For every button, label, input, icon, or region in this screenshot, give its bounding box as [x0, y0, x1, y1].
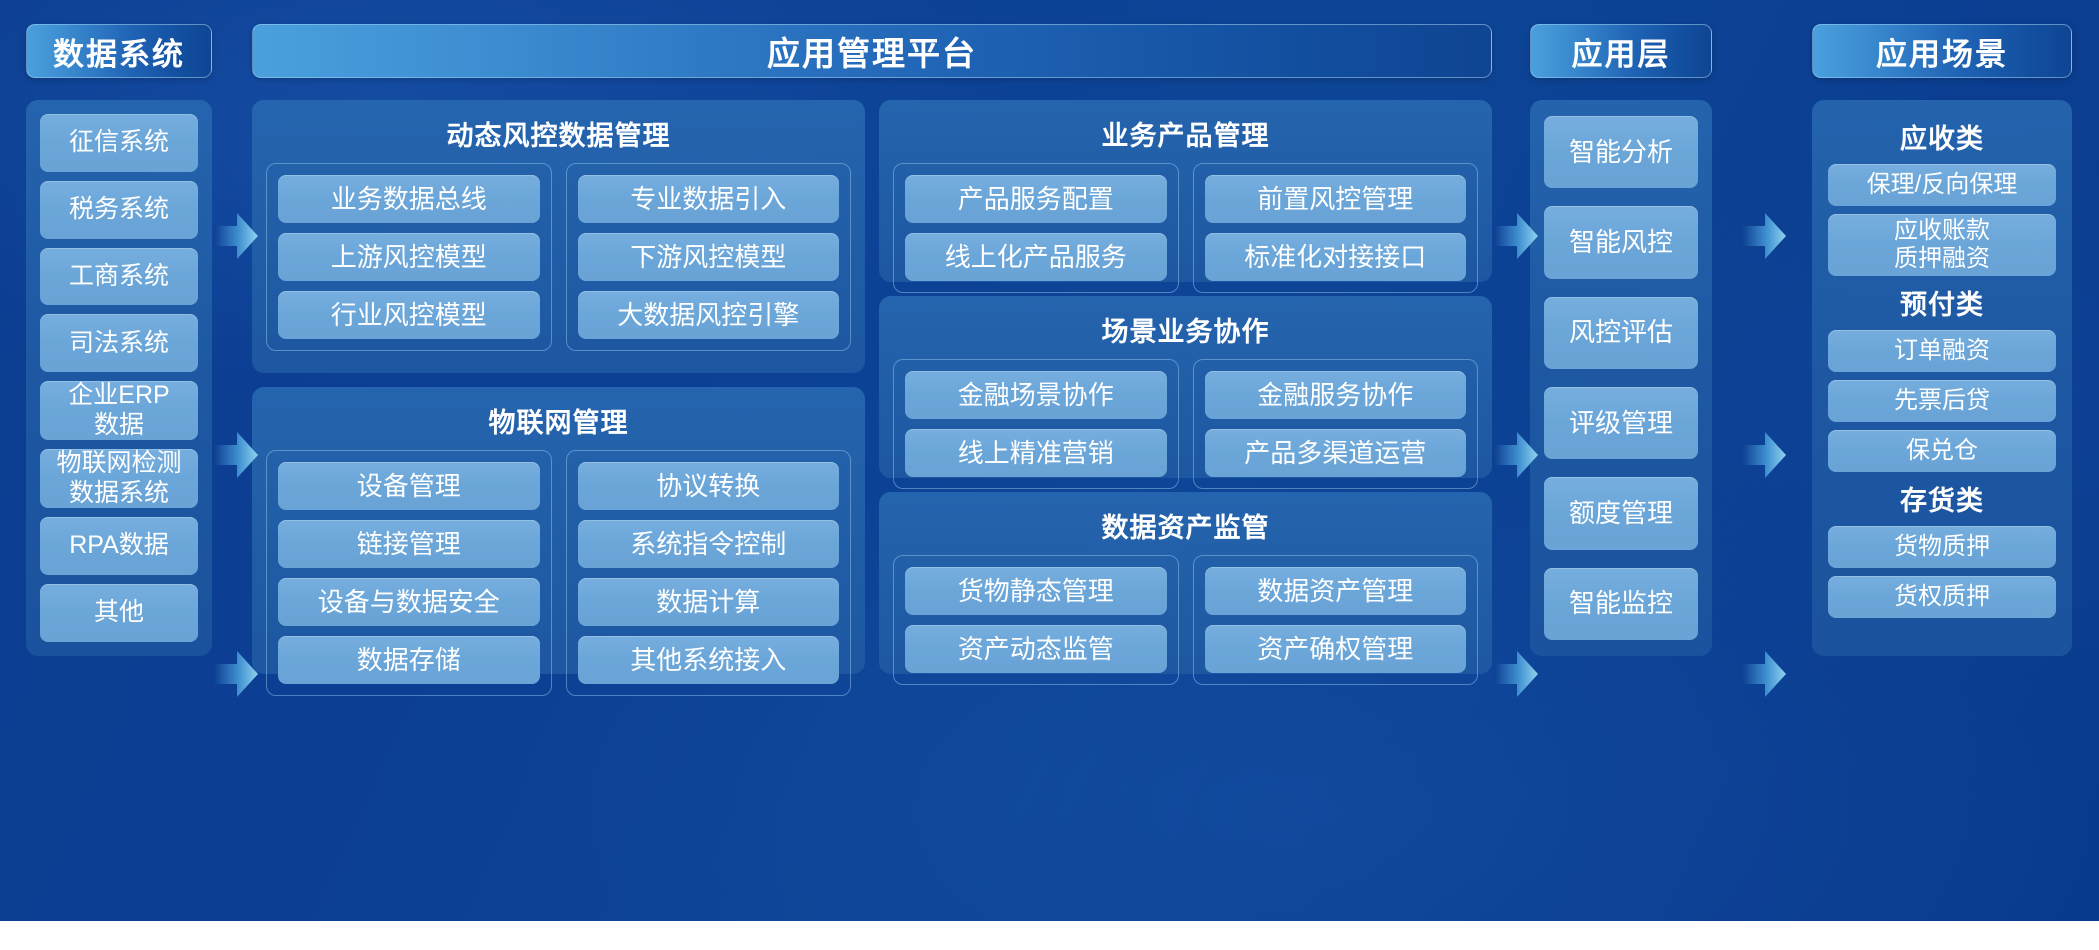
column-header-application-layer: 应用层: [1530, 24, 1712, 78]
flow-arrow-right-icon: [1494, 213, 1538, 259]
scenario-chips: 订单融资 先票后贷 保兑仓: [1828, 330, 2056, 472]
scenarios-list: 应收类 保理/反向保理 应收账款 质押融资 预付类 订单融资 先票后贷 保兑仓 …: [1812, 100, 2072, 656]
flow-arrow-right-icon: [1742, 432, 1786, 478]
flow-arrow-right-icon: [1494, 432, 1538, 478]
list-item[interactable]: 先票后贷: [1828, 380, 2056, 422]
scenario-group-title: 应收类: [1828, 110, 2056, 164]
list-item[interactable]: 数据计算: [578, 578, 840, 626]
subpanels: 金融场景协作 线上精准营销 金融服务协作 产品多渠道运营: [893, 359, 1478, 489]
platform-right-stack: 业务产品管理 产品服务配置 线上化产品服务 前置风控管理 标准化对接接口 场景业…: [879, 100, 1492, 674]
subpanel-left: 产品服务配置 线上化产品服务: [893, 163, 1179, 293]
list-item[interactable]: 征信系统: [40, 114, 198, 172]
list-item[interactable]: RPA数据: [40, 517, 198, 575]
flow-arrow-right-icon: [214, 432, 258, 478]
scenario-group-prepaid: 预付类 订单融资 先票后贷 保兑仓: [1828, 276, 2056, 472]
scenario-chips: 货物质押 货权质押: [1828, 526, 2056, 618]
list-item[interactable]: 智能分析: [1544, 116, 1698, 188]
diagram-canvas: 数据系统 征信系统 税务系统 工商系统 司法系统 企业ERP 数据 物联网检测 …: [0, 0, 2099, 950]
list-item[interactable]: 订单融资: [1828, 330, 2056, 372]
list-item[interactable]: 额度管理: [1544, 477, 1698, 549]
subpanels: 产品服务配置 线上化产品服务 前置风控管理 标准化对接接口: [893, 163, 1478, 293]
group-title: 动态风控数据管理: [266, 110, 851, 163]
group-data-asset-supervision: 数据资产监管 货物静态管理 资产动态监管 数据资产管理 资产确权管理: [879, 492, 1492, 674]
list-item[interactable]: 其他: [40, 584, 198, 642]
list-item[interactable]: 保兑仓: [1828, 430, 2056, 472]
scenario-chips: 保理/反向保理 应收账款 质押融资: [1828, 164, 2056, 276]
column-application-platform: 应用管理平台 动态风控数据管理 业务数据总线 上游风控模型 行业风控模型 专业数…: [252, 24, 1492, 674]
list-item[interactable]: 货物质押: [1828, 526, 2056, 568]
column-scenarios: 应用场景 应收类 保理/反向保理 应收账款 质押融资 预付类 订单融资 先票后贷…: [1812, 24, 2072, 656]
list-item[interactable]: 产品服务配置: [905, 175, 1167, 223]
list-item[interactable]: 智能风控: [1544, 206, 1698, 278]
subpanel-right: 协议转换 系统指令控制 数据计算 其他系统接入: [566, 450, 852, 696]
list-item[interactable]: 保理/反向保理: [1828, 164, 2056, 206]
list-item[interactable]: 资产确权管理: [1205, 625, 1467, 673]
flow-arrow-right-icon: [214, 213, 258, 259]
subpanel-left: 设备管理 链接管理 设备与数据安全 数据存储: [266, 450, 552, 696]
group-dynamic-risk-data-management: 动态风控数据管理 业务数据总线 上游风控模型 行业风控模型 专业数据引入 下游风…: [252, 100, 865, 373]
subpanels: 货物静态管理 资产动态监管 数据资产管理 资产确权管理: [893, 555, 1478, 685]
subpanel-right: 数据资产管理 资产确权管理: [1193, 555, 1479, 685]
subpanel-left: 业务数据总线 上游风控模型 行业风控模型: [266, 163, 552, 351]
list-item[interactable]: 智能监控: [1544, 568, 1698, 640]
group-title: 物联网管理: [266, 397, 851, 450]
list-item[interactable]: 其他系统接入: [578, 636, 840, 684]
list-item[interactable]: 物联网检测 数据系统: [40, 449, 198, 508]
list-item[interactable]: 线上精准营销: [905, 429, 1167, 477]
list-item[interactable]: 风控评估: [1544, 297, 1698, 369]
list-item[interactable]: 工商系统: [40, 248, 198, 306]
list-item[interactable]: 资产动态监管: [905, 625, 1167, 673]
subpanel-right: 前置风控管理 标准化对接接口: [1193, 163, 1479, 293]
list-item[interactable]: 协议转换: [578, 462, 840, 510]
list-item[interactable]: 货权质押: [1828, 576, 2056, 618]
list-item[interactable]: 产品多渠道运营: [1205, 429, 1467, 477]
platform-grid: 动态风控数据管理 业务数据总线 上游风控模型 行业风控模型 专业数据引入 下游风…: [252, 100, 1492, 674]
scenario-group-title: 存货类: [1828, 472, 2056, 526]
group-title: 数据资产监管: [893, 502, 1478, 555]
subpanel-right: 专业数据引入 下游风控模型 大数据风控引擎: [566, 163, 852, 351]
column-header-application-platform: 应用管理平台: [252, 24, 1492, 78]
scenario-group-title: 预付类: [1828, 276, 2056, 330]
data-system-list: 征信系统 税务系统 工商系统 司法系统 企业ERP 数据 物联网检测 数据系统 …: [26, 100, 212, 656]
list-item[interactable]: 税务系统: [40, 181, 198, 239]
list-item[interactable]: 企业ERP 数据: [40, 381, 198, 440]
flow-arrow-right-icon: [214, 651, 258, 697]
column-data-system: 数据系统 征信系统 税务系统 工商系统 司法系统 企业ERP 数据 物联网检测 …: [26, 24, 212, 656]
list-item[interactable]: 设备管理: [278, 462, 540, 510]
scenario-group-inventory: 存货类 货物质押 货权质押: [1828, 472, 2056, 618]
list-item[interactable]: 大数据风控引擎: [578, 291, 840, 339]
list-item[interactable]: 司法系统: [40, 314, 198, 372]
scenario-group-receivables: 应收类 保理/反向保理 应收账款 质押融资: [1828, 110, 2056, 276]
group-title: 场景业务协作: [893, 306, 1478, 359]
application-layer-list: 智能分析 智能风控 风控评估 评级管理 额度管理 智能监控: [1530, 100, 1712, 656]
list-item[interactable]: 线上化产品服务: [905, 233, 1167, 281]
list-item[interactable]: 下游风控模型: [578, 233, 840, 281]
group-iot-management: 物联网管理 设备管理 链接管理 设备与数据安全 数据存储 协议转换 系统指令控制…: [252, 387, 865, 674]
flow-arrow-right-icon: [1742, 651, 1786, 697]
list-item[interactable]: 前置风控管理: [1205, 175, 1467, 223]
column-header-data-system: 数据系统: [26, 24, 212, 78]
list-item[interactable]: 数据存储: [278, 636, 540, 684]
list-item[interactable]: 标准化对接接口: [1205, 233, 1467, 281]
column-header-scenarios: 应用场景: [1812, 24, 2072, 78]
group-title: 业务产品管理: [893, 110, 1478, 163]
list-item[interactable]: 货物静态管理: [905, 567, 1167, 615]
list-item[interactable]: 系统指令控制: [578, 520, 840, 568]
list-item[interactable]: 专业数据引入: [578, 175, 840, 223]
list-item[interactable]: 链接管理: [278, 520, 540, 568]
flow-arrow-right-icon: [1494, 651, 1538, 697]
list-item[interactable]: 应收账款 质押融资: [1828, 214, 2056, 276]
column-application-layer: 应用层 智能分析 智能风控 风控评估 评级管理 额度管理 智能监控: [1530, 24, 1712, 656]
subpanel-right: 金融服务协作 产品多渠道运营: [1193, 359, 1479, 489]
list-item[interactable]: 金融场景协作: [905, 371, 1167, 419]
list-item[interactable]: 评级管理: [1544, 387, 1698, 459]
subpanels: 业务数据总线 上游风控模型 行业风控模型 专业数据引入 下游风控模型 大数据风控…: [266, 163, 851, 351]
platform-left-stack: 动态风控数据管理 业务数据总线 上游风控模型 行业风控模型 专业数据引入 下游风…: [252, 100, 865, 674]
group-scenario-business-collaboration: 场景业务协作 金融场景协作 线上精准营销 金融服务协作 产品多渠道运营: [879, 296, 1492, 478]
list-item[interactable]: 行业风控模型: [278, 291, 540, 339]
group-business-product-management: 业务产品管理 产品服务配置 线上化产品服务 前置风控管理 标准化对接接口: [879, 100, 1492, 282]
list-item[interactable]: 上游风控模型: [278, 233, 540, 281]
subpanel-left: 货物静态管理 资产动态监管: [893, 555, 1179, 685]
subpanels: 设备管理 链接管理 设备与数据安全 数据存储 协议转换 系统指令控制 数据计算 …: [266, 450, 851, 696]
list-item[interactable]: 数据资产管理: [1205, 567, 1467, 615]
list-item[interactable]: 金融服务协作: [1205, 371, 1467, 419]
list-item[interactable]: 设备与数据安全: [278, 578, 540, 626]
list-item[interactable]: 业务数据总线: [278, 175, 540, 223]
flow-arrow-right-icon: [1742, 213, 1786, 259]
subpanel-left: 金融场景协作 线上精准营销: [893, 359, 1179, 489]
